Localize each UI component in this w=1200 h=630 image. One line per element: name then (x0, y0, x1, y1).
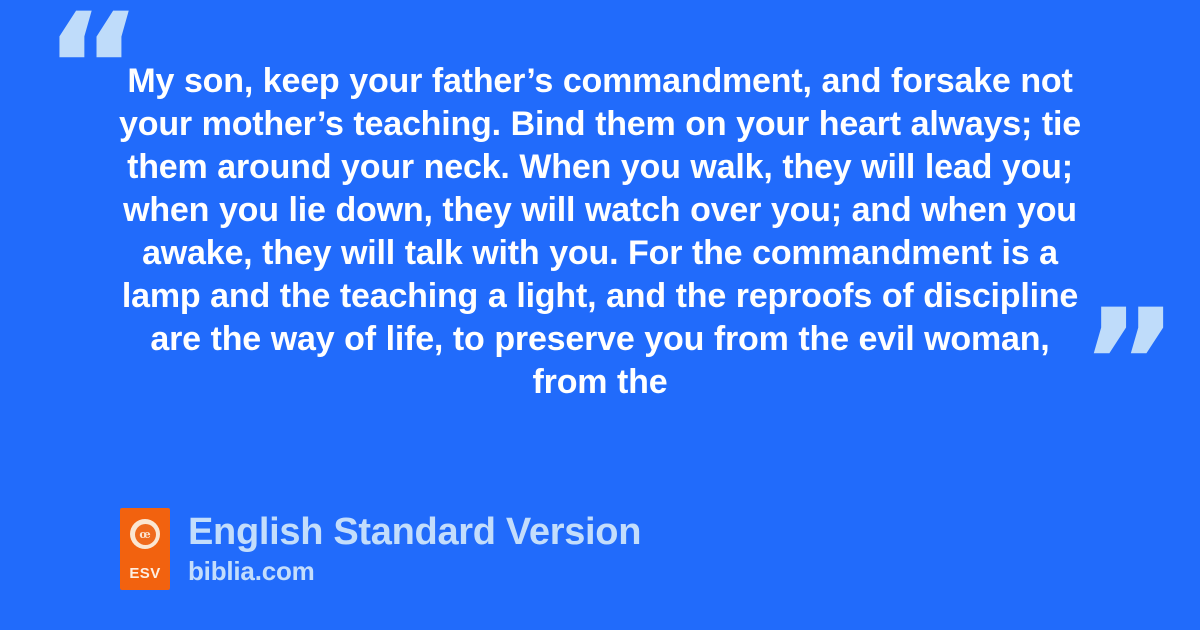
quote-poster: “ My son, keep your father’s commandment… (0, 0, 1200, 630)
quote-line: your mother’s teaching. Bind them on you… (100, 103, 1100, 146)
quote-line: lamp and the teaching a light, and the r… (100, 275, 1100, 318)
esv-logo-badge: œ ESV (120, 508, 170, 590)
source-website-label: biblia.com (188, 556, 641, 586)
esv-abbreviation-label: ESV (129, 566, 160, 581)
quote-line: are the way of life, to preserve you fro… (100, 318, 1100, 361)
quote-text: My son, keep your father’s commandment, … (100, 60, 1100, 404)
quote-block: My son, keep your father’s commandment, … (100, 60, 1100, 404)
bible-version-title: English Standard Version (188, 510, 641, 554)
quote-line: them around your neck. When you walk, th… (100, 146, 1100, 189)
attribution-footer: œ ESV English Standard Version biblia.co… (120, 508, 641, 590)
quote-line: from the (100, 361, 1100, 404)
quote-line: awake, they will talk with you. For the … (100, 232, 1100, 275)
quote-line: My son, keep your father’s commandment, … (100, 60, 1100, 103)
esv-seal-icon: œ (130, 519, 160, 549)
quote-line: when you lie down, they will watch over … (100, 189, 1100, 232)
attribution-text: English Standard Version biblia.com (188, 508, 641, 586)
esv-seal-monogram: œ (135, 524, 156, 545)
